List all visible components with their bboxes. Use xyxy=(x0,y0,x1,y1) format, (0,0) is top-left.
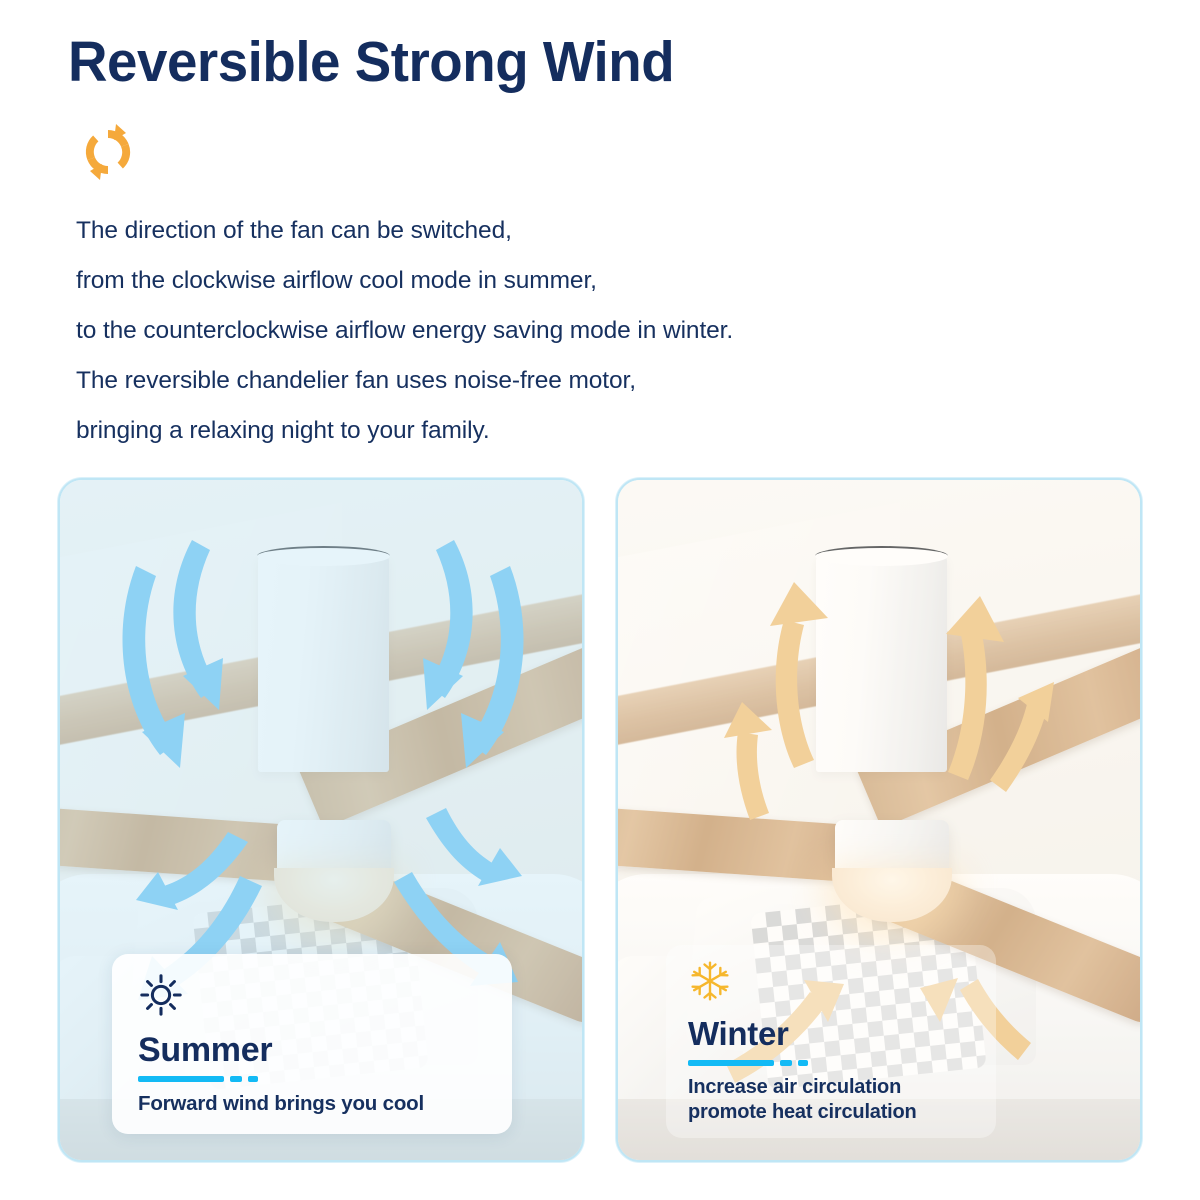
description-block: The direction of the fan can be switched… xyxy=(76,206,976,456)
comparison-panels: Summer Forward wind brings you cool xyxy=(58,478,1142,1162)
divider-dash xyxy=(248,1076,258,1082)
snowflake-icon xyxy=(688,959,978,1008)
season-title: Winter xyxy=(688,1016,978,1053)
page-title: Reversible Strong Wind xyxy=(68,30,674,96)
panel-winter: Winter Increase air circulation promote … xyxy=(616,478,1142,1162)
product-feature-page: Reversible Strong Wind The direction of … xyxy=(0,0,1200,1200)
season-title: Summer xyxy=(138,1031,490,1069)
season-caption: promote heat circulation xyxy=(688,1100,978,1124)
description-line: The direction of the fan can be switched… xyxy=(76,206,976,256)
description-line: The reversible chandelier fan uses noise… xyxy=(76,356,976,406)
sun-icon xyxy=(138,972,490,1023)
description-line: from the clockwise airflow cool mode in … xyxy=(76,256,976,306)
accent-divider xyxy=(688,1060,978,1066)
description-line: to the counterclockwise airflow energy s… xyxy=(76,306,976,356)
divider-dash xyxy=(230,1076,242,1082)
season-caption: Increase air circulation xyxy=(688,1075,978,1099)
divider-dash xyxy=(798,1060,808,1066)
divider-bar xyxy=(688,1060,774,1066)
season-card-summer: Summer Forward wind brings you cool xyxy=(112,954,512,1134)
accent-divider xyxy=(138,1076,490,1082)
divider-bar xyxy=(138,1076,224,1082)
reverse-loop-icon xyxy=(76,120,140,184)
season-card-winter: Winter Increase air circulation promote … xyxy=(666,945,996,1138)
description-line: bringing a relaxing night to your family… xyxy=(76,406,976,456)
divider-dash xyxy=(780,1060,792,1066)
panel-summer: Summer Forward wind brings you cool xyxy=(58,478,584,1162)
season-caption: Forward wind brings you cool xyxy=(138,1091,490,1116)
